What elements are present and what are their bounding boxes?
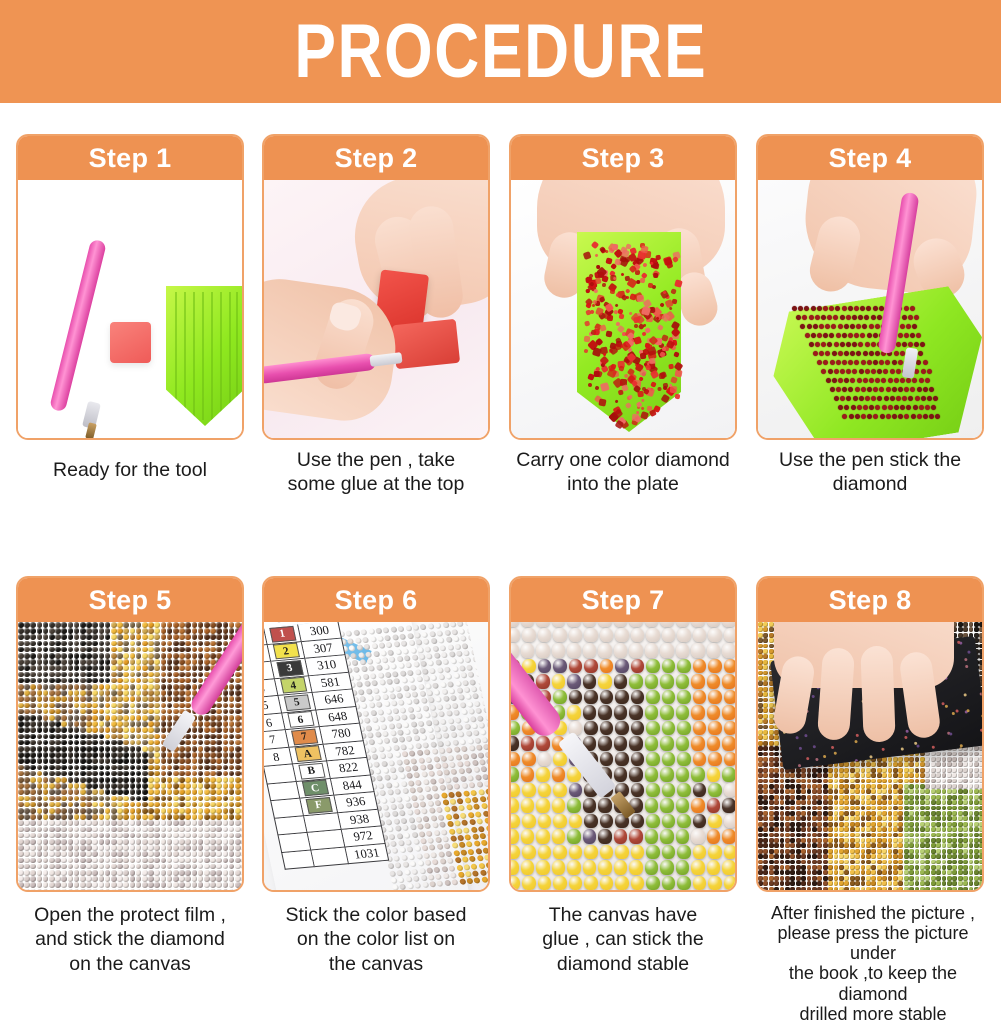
step-2-header: Step 2 [264,136,488,180]
step-6-header: Step 6 [264,578,488,622]
step-4-caption: Use the pen stick the diamond [756,448,984,497]
step-card-8: Step 8 [756,576,984,896]
step-card-6: Step 6 SDMC11300223073331044581556466664… [262,576,490,896]
steps-grid: Step 1 [0,103,1001,1001]
diamond-drills-macro [511,622,735,890]
caption-line: some glue at the top [268,472,484,496]
step-card-2: Step 2 [262,134,490,444]
step-2-caption: Use the pen , take some glue at the top [262,448,490,497]
step-3-header: Step 3 [511,136,735,180]
caption-line: on the color list on [262,927,490,951]
page-banner: PROCEDURE [0,0,1001,103]
step-8-header: Step 8 [758,578,982,622]
red-drills [511,180,735,438]
step-6-photo: SDMC113002230733310445815564666648777808… [264,622,488,890]
step-7-header: Step 7 [511,578,735,622]
caption-line: on the canvas [16,952,244,976]
step-7-caption: The canvas have glue , can stick the dia… [503,903,743,976]
caption-line: Use the pen , take [268,448,484,472]
caption-line: Use the pen stick the [762,448,978,472]
step-4-photo [758,180,982,438]
step-1-header: Step 1 [18,136,242,180]
procedure-infographic: PROCEDURE Step 1 [0,0,1001,1001]
step-1-photo [18,180,242,438]
step-card-1: Step 1 [16,134,244,444]
caption-line: drilled more stable [754,1004,992,1024]
step-6-caption: Stick the color based on the color list … [256,903,496,976]
page-title: PROCEDURE [294,14,707,90]
step-7-photo [511,622,735,890]
step-card-7: Step 7 [509,576,737,896]
caption-line: After finished the picture , [754,903,992,923]
caption-line: Ready for the tool [22,458,238,482]
caption-line: and stick the diamond [16,927,244,951]
caption-line: The canvas have [509,903,737,927]
step-card-3: Step 3 [509,134,737,444]
step-4-header: Step 4 [758,136,982,180]
caption-line: Open the protect film , [16,903,244,927]
caption-line: Carry one color diamond [515,448,731,472]
glue-square [110,322,151,363]
diamond-canvas [18,622,242,890]
step-5-header: Step 5 [18,578,242,622]
step-3-photo [511,180,735,438]
step-2-photo [264,180,488,438]
caption-line: please press the picture under [754,923,992,963]
caption-line: diamond [762,472,978,496]
caption-line: diamond stable [509,952,737,976]
caption-line: into the plate [515,472,731,496]
step-3-caption: Carry one color diamond into the plate [509,448,737,497]
caption-line: glue , can stick the [509,927,737,951]
caption-line: the book ,to keep the diamond [754,963,992,1003]
step-5-photo [18,622,242,890]
caption-line: the canvas [262,952,490,976]
caption-line: Stick the color based [262,903,490,927]
step-card-5: Step 5 [16,576,244,896]
step-card-4: Step 4 [756,134,984,444]
step-5-caption: Open the protect film , and stick the di… [10,903,250,976]
step-1-caption: Ready for the tool [16,458,244,482]
drill-rows [758,180,982,438]
step-8-photo [758,622,982,890]
step-8-caption: After finished the picture , please pres… [748,903,998,1024]
